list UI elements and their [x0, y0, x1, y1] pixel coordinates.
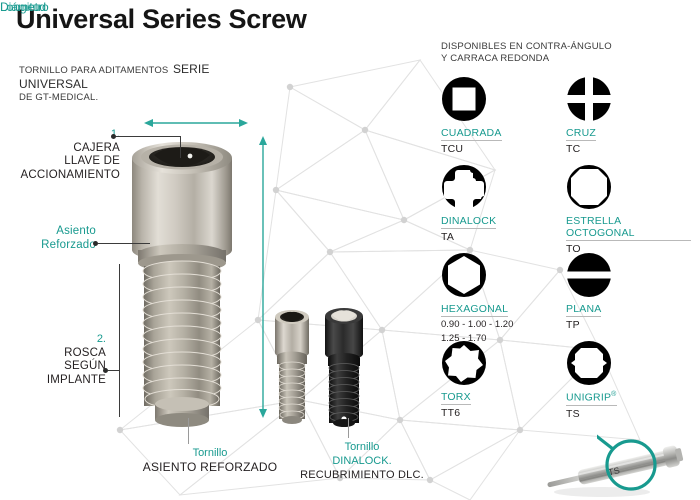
hexagon-socket-icon: [441, 252, 487, 298]
label-tornillo-dinalock: Tornillo DINALOCK. RECUBRIMIENTO DLC.: [292, 440, 432, 482]
driver-item-plana[interactable]: PLANA TP: [566, 252, 612, 331]
poster-root: Universal Series Screw TORNILLO PARA ADI…: [0, 0, 700, 500]
driver-code-torx: TT6: [441, 407, 487, 419]
label-tornillo-asiento-reforzado: Tornillo ASIENTO REFORZADO: [110, 446, 310, 474]
driver-item-unigrip[interactable]: UNIGRIP® TS: [566, 340, 617, 420]
callout-asiento-dot: [93, 241, 98, 246]
callout-rosca-number: 2.: [8, 333, 106, 347]
driver-name-estrella-octogonal: ESTRELLA OCTOGONAL: [566, 215, 691, 241]
callout-rosca-dot: [103, 368, 108, 373]
callout-cajera-line2: LLAVE DE: [10, 155, 120, 169]
callout-rosca-line1: ROSCA: [8, 347, 106, 361]
cross-socket-icon: [566, 76, 612, 122]
driver-name-unigrip: UNIGRIP®: [566, 391, 617, 406]
page-title: Universal Series Screw: [16, 4, 307, 35]
driver-name-cruz: CRUZ: [566, 127, 596, 141]
length-arrow: [256, 136, 270, 418]
callout-asiento-line2: Reforzado: [8, 239, 96, 253]
dinalock-socket-icon: [441, 164, 487, 210]
callout-cajera-line3: ACCIONAMIENTO: [10, 169, 120, 183]
driver-item-dinalock[interactable]: DINALOCK TA: [441, 164, 496, 243]
callout-rosca: 2. ROSCA SEGÚN IMPLANTE: [8, 333, 106, 387]
driver-item-estrella-octogonal[interactable]: ESTRELLA OCTOGONAL TO: [566, 164, 691, 255]
label-tornillo-asiento-line1: Tornillo: [110, 446, 310, 460]
callout-asiento-line1: Asiento: [8, 225, 96, 239]
label-tornillo-dinalock-line2: DINALOCK.: [292, 454, 432, 468]
length-label: Longitud: [0, 0, 46, 14]
driver-code-cuadrada: TCU: [441, 143, 502, 155]
callout-asiento: Asiento Reforzado: [8, 225, 96, 252]
tool-marking-highlight: [597, 432, 669, 492]
panel-heading: DISPONIBLES EN CONTRA-ÁNGULO Y CARRACA R…: [441, 41, 612, 65]
driver-name-dinalock: DINALOCK: [441, 215, 496, 229]
subtitle-block: TORNILLO PARA ADITAMENTOS SERIE UNIVERSA…: [19, 62, 279, 104]
subtitle-line1: TORNILLO PARA ADITAMENTOS: [19, 65, 168, 76]
driver-name-hexagonal: HEXAGONAL: [441, 303, 508, 317]
label-tornillo-dinalock-line3: RECUBRIMIENTO DLC.: [292, 468, 432, 482]
driver-name-plana: PLANA: [566, 303, 601, 317]
small-screw-dinalock-dlc: [320, 306, 368, 432]
label-tornillo-asiento-leader: [188, 418, 189, 444]
driver-code-cruz: TC: [566, 143, 612, 155]
callout-rosca-bracket: [119, 264, 120, 417]
callout-cajera-number: 1.: [10, 128, 120, 142]
driver-code-plana: TP: [566, 319, 612, 331]
driver-name-torx: TORX: [441, 391, 471, 405]
driver-item-hexagonal[interactable]: HEXAGONAL 0.90 - 1.00 - 1.20 1.25 - 1.70: [441, 252, 513, 344]
callout-cajera-leader-v: [180, 136, 181, 158]
label-tornillo-dinalock-line1: Tornillo: [292, 440, 432, 454]
diameter-arrow: [144, 116, 248, 130]
panel-heading-line1: DISPONIBLES EN CONTRA-ÁNGULO: [441, 41, 612, 53]
registered-trademark-icon: ®: [611, 391, 616, 398]
callout-cajera-leader-h: [116, 136, 180, 137]
slot-socket-icon: [566, 252, 612, 298]
driver-code-dinalock: TA: [441, 231, 496, 243]
label-tornillo-asiento-line2: ASIENTO REFORZADO: [110, 460, 310, 474]
label-tornillo-dinalock-leader: [348, 418, 349, 438]
driver-code-unigrip: TS: [566, 408, 617, 420]
driver-sizes-hexagonal-line1: 0.90 - 1.00 - 1.20: [441, 319, 513, 331]
small-screw-titanium: [270, 308, 314, 430]
callout-rosca-line3: IMPLANTE: [8, 374, 106, 388]
callout-asiento-leader: [98, 243, 150, 244]
subtitle-line2: DE GT-MEDICAL.: [19, 91, 279, 104]
driver-item-torx[interactable]: TORX TT6: [441, 340, 487, 419]
driver-name-unigrip-text: UNIGRIP: [566, 392, 611, 404]
driver-name-cuadrada: CUADRADA: [441, 127, 502, 141]
callout-cajera-line1: CAJERA: [10, 142, 120, 156]
callout-rosca-line2: SEGÚN: [8, 360, 106, 374]
main-screw-illustration: [124, 136, 240, 436]
square-socket-icon: [441, 76, 487, 122]
callout-cajera: 1. CAJERA LLAVE DE ACCIONAMIENTO: [10, 128, 120, 182]
torx-socket-icon: [441, 340, 487, 386]
panel-heading-line2: Y CARRACA REDONDA: [441, 53, 612, 65]
driver-item-cruz[interactable]: CRUZ TC: [566, 76, 612, 155]
octagon-socket-icon: [566, 164, 612, 210]
driver-item-cuadrada[interactable]: CUADRADA TCU: [441, 76, 502, 155]
unigrip-socket-icon: [566, 340, 612, 386]
callout-cajera-dot: [111, 134, 116, 139]
